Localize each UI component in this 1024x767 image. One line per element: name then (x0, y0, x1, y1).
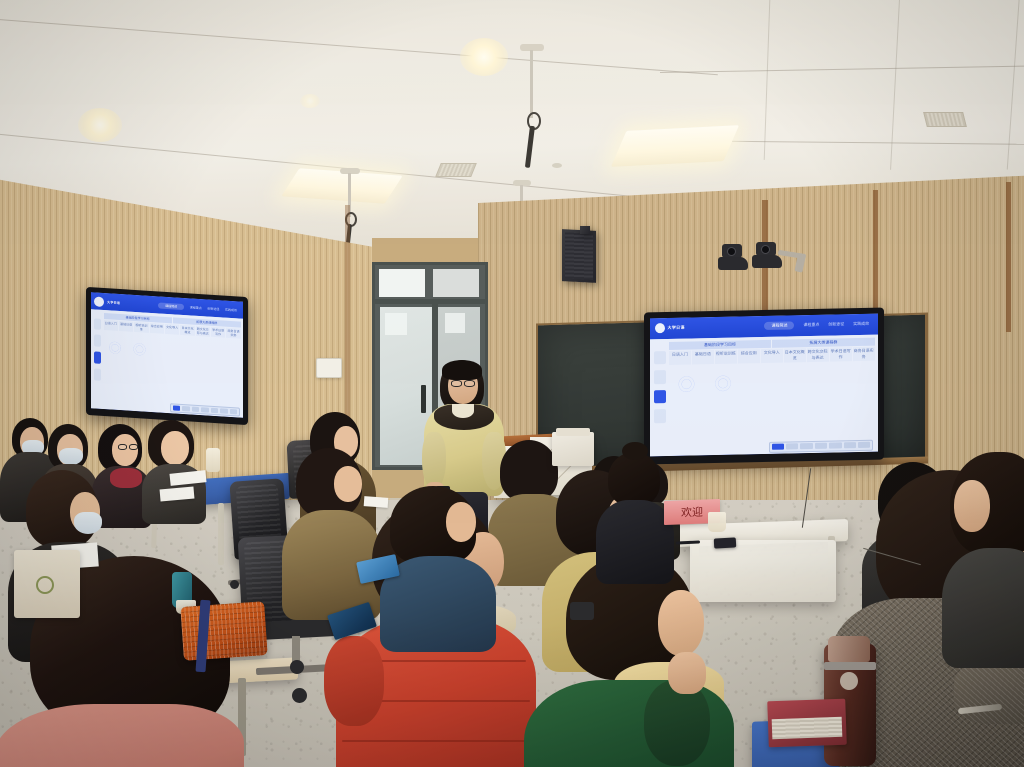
slide-side-rail (653, 342, 666, 454)
slide-toolbar[interactable] (769, 439, 874, 452)
subheader: 学术日语写作 (830, 347, 852, 361)
subheader: 跨文化交际与表达 (196, 325, 210, 336)
tote-logo-icon (36, 576, 54, 594)
slide-thumbnail[interactable] (706, 403, 741, 404)
rail-button[interactable] (654, 351, 665, 365)
classroom-scene: 大学日语 课程简述 课程重点 创新途径 实践成效 (0, 0, 1024, 767)
slide-side-rail (93, 312, 102, 407)
slide-thumbnail[interactable] (669, 366, 704, 367)
wall-trim-strip (873, 190, 878, 320)
face (161, 431, 189, 465)
left-display-screen[interactable]: 大学日语 课程简述 课程重点 创新途径 实践成效 (86, 287, 248, 425)
rail-button[interactable] (94, 318, 102, 330)
rail-button[interactable] (94, 335, 102, 347)
paper-cup (206, 448, 220, 472)
slide-thumbnail[interactable] (128, 366, 151, 367)
slide-thumbnail[interactable] (128, 333, 151, 334)
subheader: 日本文化概览 (784, 348, 806, 362)
toolbar-button[interactable] (182, 406, 189, 411)
document-paper (364, 496, 389, 508)
subheader: 文化导入 (761, 349, 783, 363)
door-mullion (375, 299, 485, 304)
subheader: 综合应用 (150, 323, 164, 334)
right-display-screen[interactable]: 大学日语 课程简述 课程重点 创新途径 实践成效 (644, 307, 884, 464)
speaker-bracket (580, 226, 590, 234)
slide-thumbnail[interactable] (789, 393, 824, 394)
nav-tab-3[interactable]: 实践成效 (853, 321, 869, 327)
toolbar-button[interactable] (858, 442, 870, 448)
slide-thumbnail[interactable] (789, 423, 824, 424)
slide-thumbnail[interactable] (184, 337, 207, 338)
presenter-glasses (464, 380, 475, 387)
ceiling-downlight (78, 108, 122, 142)
hand (668, 652, 706, 694)
face (954, 480, 990, 532)
subheader: 文化导入 (165, 324, 179, 335)
hair (500, 440, 558, 502)
slide-thumbnail[interactable] (826, 363, 875, 364)
eyeglasses (129, 444, 138, 450)
nav-tab-0[interactable]: 课程简述 (764, 322, 794, 331)
rail-button[interactable] (654, 410, 665, 424)
presenter-glasses (451, 380, 462, 387)
slide-thumbnail[interactable] (184, 363, 207, 364)
toolbar-button[interactable] (211, 408, 218, 413)
subheader: 日语入门 (104, 320, 118, 331)
subheader: 学术日语写作 (211, 326, 225, 337)
slide-thumbnail[interactable] (153, 397, 182, 399)
table-leg (218, 503, 224, 565)
toolbar-button[interactable] (192, 406, 199, 411)
face (112, 434, 138, 466)
torso (942, 548, 1024, 668)
slide-thumbnail[interactable] (826, 404, 875, 405)
presenter-hair-front (442, 360, 482, 380)
subheader: 跨文化交际与表达 (807, 348, 829, 362)
toolbar-button[interactable] (800, 443, 812, 449)
notebook-pages (772, 717, 843, 739)
chair-caster (292, 688, 307, 703)
wall-trim-strip (1006, 182, 1011, 332)
eyeglasses (118, 444, 127, 450)
door-upper-light (385, 313, 407, 335)
toolbar-button[interactable] (786, 443, 798, 449)
nav-tab-2[interactable]: 创新途径 (828, 322, 844, 328)
nav-tab-0[interactable]: 课程简述 (158, 302, 184, 310)
puffer-quilt-line (342, 740, 532, 742)
subheader: 基础日语 (119, 321, 133, 332)
subheader: 综合应用 (738, 349, 760, 363)
door-handle[interactable] (421, 385, 426, 413)
slide-nav: 课程简述 课程重点 创新途径 实践成效 (125, 300, 240, 313)
door-upper-light (445, 313, 465, 333)
rail-button-selected[interactable] (654, 390, 665, 404)
ceiling-air-vent (435, 163, 477, 177)
toolbar-button[interactable] (220, 408, 227, 413)
slide-brand: 大学日语 (94, 296, 120, 308)
nav-tab-3[interactable]: 实践成效 (225, 307, 237, 312)
smoke-detector (552, 163, 562, 168)
equipment-box-lid (556, 428, 590, 436)
table-modesty-panel (690, 540, 836, 602)
smartphone[interactable] (714, 537, 736, 548)
rail-button-selected[interactable] (94, 352, 102, 364)
subheader: 基础日语 (692, 350, 714, 364)
chair-caster (290, 660, 304, 674)
subheader: 商务日语实务 (853, 347, 875, 361)
torso (596, 500, 674, 584)
patterned-shoulder-bag[interactable] (180, 601, 268, 661)
rail-button[interactable] (94, 369, 102, 381)
subheader: 商务日语实务 (226, 327, 240, 338)
equipment-box (552, 432, 594, 466)
ceiling-downlight (300, 94, 320, 108)
slide-thumbnail[interactable] (104, 332, 127, 333)
slide-thumbnail[interactable] (706, 366, 741, 367)
subheader: 日本文化概览 (180, 324, 194, 335)
slide-thumbnail[interactable] (742, 411, 787, 412)
toolbar-button[interactable] (829, 443, 841, 449)
toolbar-button[interactable] (844, 442, 856, 448)
nav-tab-2[interactable]: 创新途径 (207, 306, 219, 311)
face-mask (74, 512, 102, 534)
toolbar-button[interactable] (772, 444, 784, 450)
slide-nav: 课程简述 课程重点 创新途径 实践成效 (691, 320, 873, 332)
scarf (110, 468, 142, 488)
wall-speaker (562, 229, 596, 283)
toolbar-button[interactable] (815, 443, 827, 449)
face-mask (59, 448, 83, 465)
canvas-tote-bag[interactable] (14, 550, 80, 618)
slide-thumbnail[interactable] (742, 436, 787, 437)
toolbar-button[interactable] (201, 407, 208, 412)
brand-title: 大学日语 (107, 300, 120, 305)
torso-sweater (0, 704, 244, 767)
subheader: 视听说训练 (715, 350, 737, 364)
chair-caster (230, 580, 239, 589)
hair (608, 452, 660, 506)
door-transom (433, 269, 479, 297)
hair-bun (622, 442, 648, 460)
arm (954, 660, 1024, 724)
slide-thumbnail[interactable] (184, 389, 207, 390)
nav-tab-1[interactable]: 课程重点 (190, 305, 202, 310)
toolbar-button[interactable] (230, 409, 237, 414)
slide-thumbnail[interactable] (209, 338, 241, 340)
ceiling-air-vent (923, 112, 967, 127)
wall-outlet-plate (316, 358, 342, 378)
ceiling-panel-light (611, 125, 739, 167)
hair-clip (570, 602, 594, 620)
subheader: 日语入门 (669, 351, 691, 365)
slide-thumbnail[interactable] (789, 364, 824, 365)
brand-logo-icon (94, 296, 104, 307)
slide-thumbnail[interactable] (742, 365, 787, 366)
slide-brand: 大学日语 (655, 323, 685, 334)
arm (324, 636, 384, 726)
brand-logo-icon (655, 323, 665, 333)
slide-thumbnail[interactable] (153, 335, 182, 337)
door-transom (379, 269, 425, 297)
slide-thumbnail[interactable] (669, 404, 704, 405)
face (446, 502, 476, 542)
nav-tab-1[interactable]: 课程重点 (803, 322, 819, 328)
flask-band (824, 662, 876, 670)
toolbar-button[interactable] (173, 405, 180, 410)
presenter-collar-inner (452, 404, 474, 418)
subheader: 视听说训练 (134, 322, 148, 333)
slide-thumbnail[interactable] (209, 374, 241, 376)
slide-thumbnail[interactable] (104, 364, 127, 365)
brand-title: 大学日语 (668, 325, 685, 331)
face (334, 466, 362, 502)
face (658, 590, 704, 656)
rail-button[interactable] (654, 371, 665, 385)
paper-cup (708, 512, 726, 532)
flask-cap (828, 636, 870, 662)
slide-thumbnail[interactable] (153, 376, 182, 378)
flask-logo-icon (840, 672, 858, 690)
ceiling-downlight (460, 38, 508, 76)
